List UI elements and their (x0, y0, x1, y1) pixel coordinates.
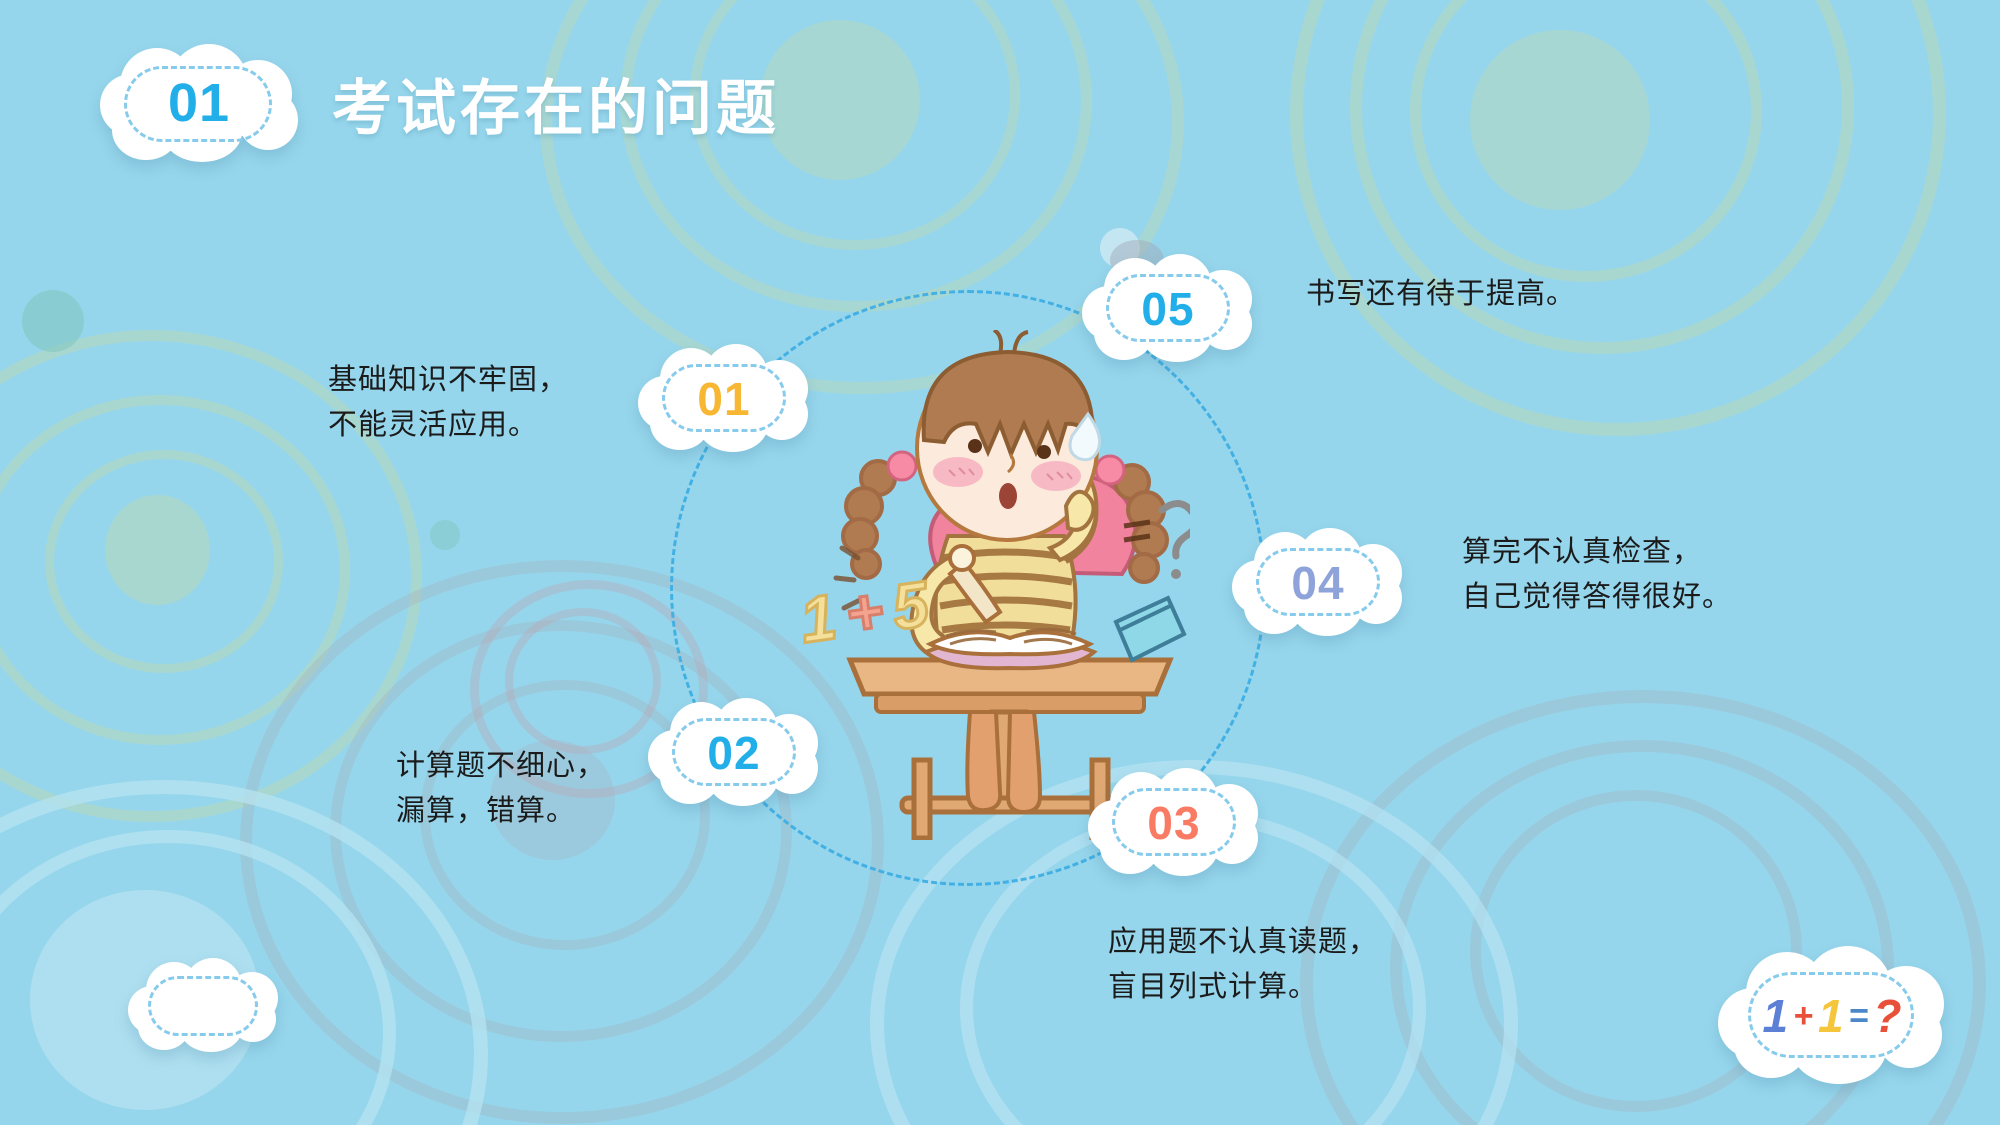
swirl-green-left-mid (0, 395, 350, 745)
slide-header: 01 考试存在的问题 (96, 44, 780, 162)
item-badge-05[interactable]: 05 (1082, 254, 1254, 364)
item-badge-number: 04 (1232, 528, 1404, 638)
item-badge-02[interactable]: 02 (648, 698, 820, 808)
section-number-cloud: 01 (96, 44, 302, 162)
page-title: 考试存在的问题 (332, 60, 780, 147)
slide-canvas: 01 考试存在的问题 (0, 0, 2000, 1125)
item-text-04: 算完不认真检查， 自己觉得答得很好。 (1462, 530, 1732, 620)
equation-glyph-2: 1 (1818, 989, 1844, 1043)
decorative-cloud-equation: 1 + 1 = ? (1718, 946, 1946, 1086)
cloud-equation-glyphs: 1 + 1 = ? (1718, 946, 1946, 1086)
item-text-03: 应用题不认真读题， 盲目列式计算。 (1108, 920, 1378, 1010)
item-badge-04[interactable]: 04 (1232, 528, 1404, 638)
blob-green-top (760, 20, 920, 180)
dot-teal-topleft (22, 290, 84, 352)
dot-teal-small (430, 520, 460, 550)
blob-green-left (105, 495, 210, 605)
swirl-green-left-inner (45, 450, 283, 673)
decorative-cloud-bottom-left (128, 958, 278, 1054)
section-number-text: 01 (96, 44, 302, 162)
swirl-rose-small-inner (505, 608, 661, 754)
item-text-05: 书写还有待于提高。 (1306, 272, 1576, 317)
item-badge-number: 03 (1088, 768, 1260, 878)
item-badge-number: 02 (648, 698, 820, 808)
blob-green-right (1470, 30, 1650, 210)
equation-glyph-plus: + (1793, 997, 1813, 1036)
equation-glyph-question: ? (1873, 989, 1901, 1043)
item-badge-number: 05 (1082, 254, 1254, 364)
item-text-01: 基础知识不牢固， 不能灵活应用。 (328, 358, 568, 448)
swirl-green-right-outer (1290, 0, 1946, 436)
item-badge-number: 01 (638, 344, 810, 454)
equation-glyph-1: 1 (1762, 989, 1788, 1043)
cloud-stitch-dash (148, 976, 258, 1036)
doodle-operator-plus: + (841, 573, 888, 651)
equation-glyph-equals: = (1849, 997, 1869, 1036)
item-text-02: 计算题不细心， 漏算，错算。 (396, 744, 606, 834)
item-badge-03[interactable]: 03 (1088, 768, 1260, 878)
item-badge-01[interactable]: 01 (638, 344, 810, 454)
swirl-green-right-inner (1410, 0, 1762, 282)
